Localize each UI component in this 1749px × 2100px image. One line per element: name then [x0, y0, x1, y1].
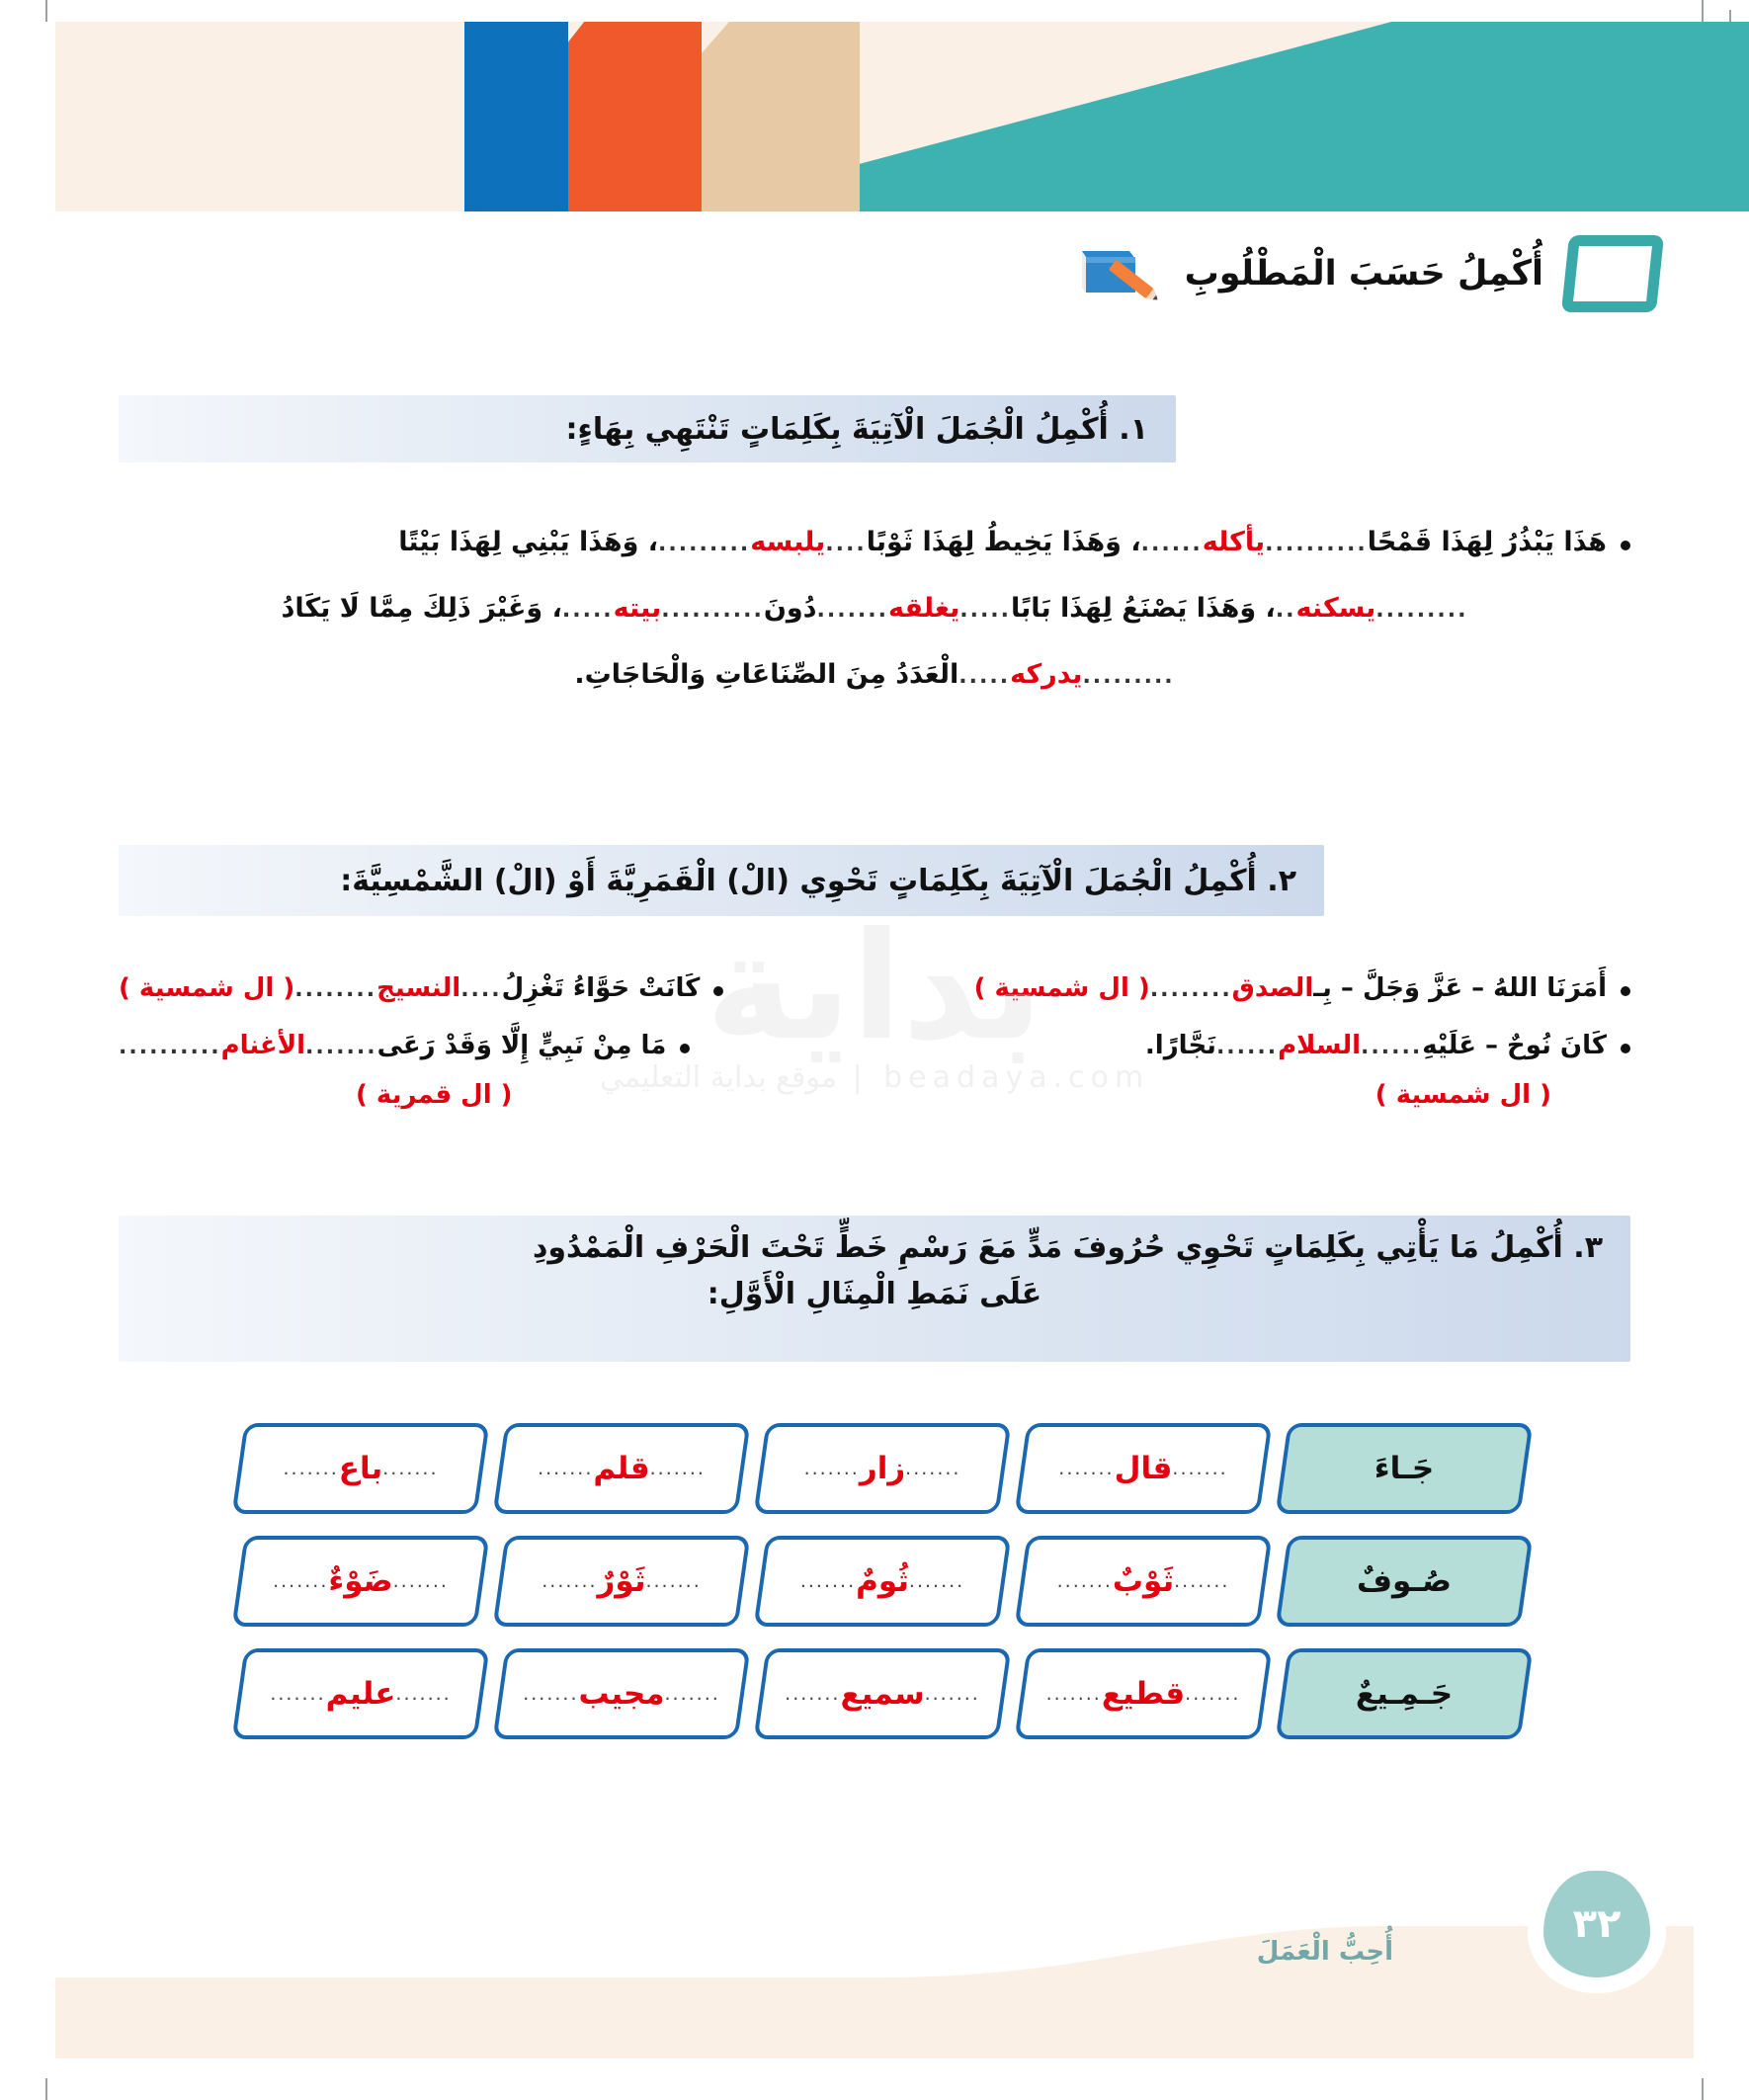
- blank-dots[interactable]: .......: [1172, 1458, 1227, 1479]
- answer-cell[interactable]: .......ضَوْءٌ.......: [232, 1536, 490, 1627]
- sentence-segment: مَا مِنْ نَبِيٍّ إِلَّا وَقَدْ رَعَى: [377, 1031, 667, 1060]
- blank-dots[interactable]: ........: [1150, 977, 1232, 1002]
- page-title: أُكْمِلُ حَسَبَ الْمَطْلُوبِ: [1185, 254, 1543, 294]
- blank-dots[interactable]: .......: [283, 1458, 338, 1479]
- answer-text: الأغنام: [221, 1031, 305, 1060]
- example-word: جَـمِـيعٌ: [1356, 1676, 1453, 1712]
- table-row: جَـاءَ .......قال....... .......زار.....…: [222, 1423, 1527, 1514]
- answer-word: عليم: [326, 1676, 396, 1712]
- textbook-page: أُكْمِلُ حَسَبَ الْمَطْلُوبِ ١. أُكْمِلُ…: [0, 0, 1749, 2100]
- blank-dots[interactable]: .......: [541, 1570, 597, 1592]
- answer-cell[interactable]: .......مجيب.......: [493, 1648, 751, 1739]
- blank-dots[interactable]: .........: [1082, 666, 1174, 688]
- blank-dots[interactable]: .......: [925, 1683, 980, 1705]
- blank-dots[interactable]: .......: [817, 600, 889, 622]
- blank-dots[interactable]: .......: [800, 1570, 856, 1592]
- exercise-2-body: أَمَرَنَا اللهُ – عَزَّ وَجَلَّ – بِـ ال…: [119, 973, 1630, 1110]
- blank-dots[interactable]: ......: [1361, 1035, 1422, 1059]
- al-type-tag-shamsiya: ( ال شمسية ): [1375, 1080, 1551, 1110]
- exercise-2-tag-row: ( ال شمسية ) ( ال قمرية ): [119, 1080, 1630, 1110]
- answer-word: ثُومٌ: [856, 1563, 909, 1599]
- exercise-1-line-2: ......... يسكنه .. ، وَهَذَا يَصْنَعُ لِ…: [119, 595, 1630, 622]
- sentence-segment: ، وَهَذَا يَخِيطُ لِهَذَا ثَوْبًا: [867, 529, 1141, 555]
- exercise-3-instruction-line-2: عَلَى نَمَطِ الْمِثَالِ الْأَوَّلِ:: [146, 1272, 1603, 1318]
- blank-dots[interactable]: .......: [523, 1683, 578, 1705]
- blank-dots[interactable]: .......: [1046, 1683, 1102, 1705]
- blank-dots[interactable]: ........: [294, 977, 376, 1002]
- sentence-segment: نَجَّارًا.: [1145, 1031, 1216, 1060]
- blank-dots[interactable]: .......: [1057, 1570, 1113, 1592]
- footer-lesson-label: أُحِبُّ الْعَمَلَ: [1257, 1937, 1393, 1967]
- al-type-tag-qamariya: ( ال قمرية ): [356, 1080, 513, 1110]
- al-type-tag: ( ال شمسية ): [974, 973, 1150, 1003]
- blank-dots[interactable]: ..........: [1265, 534, 1368, 555]
- answer-word: مجيب: [579, 1676, 665, 1712]
- sentence-segment: كَانَتْ حَوَّاءُ تَغْزِلُ: [502, 973, 701, 1003]
- band-stripe-cream: [55, 22, 464, 211]
- blank-dots[interactable]: .......: [395, 1683, 451, 1705]
- answer-cell[interactable]: .......زار.......: [754, 1423, 1012, 1514]
- blank-dots[interactable]: .......: [1058, 1458, 1114, 1479]
- blank-dots[interactable]: .......: [905, 1458, 960, 1479]
- blank-dots[interactable]: .......: [393, 1570, 449, 1592]
- crop-mark-top-left: [45, 0, 47, 22]
- answer-text: الصدق: [1232, 973, 1314, 1003]
- blank-dots[interactable]: .......: [305, 1035, 377, 1059]
- sentence-segment: أَمَرَنَا اللهُ – عَزَّ وَجَلَّ – بِـ: [1313, 973, 1607, 1003]
- answer-cell[interactable]: .......قال.......: [1015, 1423, 1273, 1514]
- answer-text: يأكله: [1203, 529, 1265, 555]
- crop-mark-bottom-right: [1702, 2078, 1704, 2100]
- answer-text: بيته: [614, 595, 662, 622]
- exercise-2-row-2: كَانَ نُوحٌ – عَلَيْهِ ...... السلام ...…: [119, 1031, 1630, 1060]
- blank-dots[interactable]: .......: [645, 1570, 701, 1592]
- exercise-2-item-right: مَا مِنْ نَبِيٍّ إِلَّا وَقَدْ رَعَى ...…: [119, 1031, 690, 1060]
- blank-dots[interactable]: ....: [460, 977, 501, 1002]
- blank-dots[interactable]: .......: [665, 1683, 720, 1705]
- crop-mark-bottom-left: [45, 2078, 47, 2100]
- exercise-2-instruction: ٢. أُكْمِلُ الْجُمَلَ الْآتِيَةَ بِكَلِم…: [119, 845, 1324, 916]
- blank-dots[interactable]: ......: [1216, 1035, 1278, 1059]
- square-badge-icon: [1561, 235, 1664, 312]
- answer-cell[interactable]: .......ثَوْرٌ.......: [493, 1536, 751, 1627]
- answer-text: يغلقه: [888, 595, 959, 622]
- sentence-segment: كَانَ نُوحٌ – عَلَيْهِ: [1422, 1031, 1607, 1060]
- sentence-segment: الْعَدَدُ مِنَ الصِّنَاعَاتِ وَالْحَاجَا…: [574, 661, 958, 688]
- bullet-icon: [1621, 541, 1630, 550]
- blank-dots[interactable]: .......: [538, 1458, 593, 1479]
- exercise-1-line-3: ......... يدركه ..... الْعَدَدُ مِنَ الص…: [119, 661, 1630, 688]
- section-title-row: أُكْمِلُ حَسَبَ الْمَطْلُوبِ: [1072, 235, 1660, 312]
- blank-dots[interactable]: .........: [1375, 600, 1467, 622]
- bullet-icon: [680, 1044, 690, 1053]
- answer-text: يدركه: [1010, 661, 1082, 688]
- blank-dots[interactable]: .......: [1174, 1570, 1229, 1592]
- example-word: صُـوفٌ: [1357, 1563, 1452, 1599]
- exercise-2-item-right: كَانَتْ حَوَّاءُ تَغْزِلُ .... النسيج ..…: [119, 973, 723, 1003]
- blank-dots[interactable]: ....: [825, 534, 866, 555]
- header-decoration-band: [55, 22, 1749, 211]
- exercise-1-instruction: ١. أُكْمِلُ الْجُمَلَ الْآتِيَةَ بِكَلِم…: [119, 395, 1176, 462]
- blank-dots[interactable]: .......: [909, 1570, 964, 1592]
- exercise-3-grid: جَـاءَ .......قال....... .......زار.....…: [222, 1423, 1527, 1761]
- blank-dots[interactable]: ..........: [119, 1035, 221, 1059]
- answer-word: قطيع: [1102, 1676, 1185, 1712]
- answer-word: ثَوْبٌ: [1113, 1563, 1174, 1599]
- bullet-icon: [1621, 1044, 1630, 1053]
- answer-cell[interactable]: .......قطيع.......: [1015, 1648, 1273, 1739]
- answer-text: يسكنه: [1296, 595, 1376, 622]
- blank-dots[interactable]: .......: [804, 1458, 860, 1479]
- blank-dots[interactable]: .......: [270, 1683, 325, 1705]
- answer-cell[interactable]: .......قلم.......: [493, 1423, 751, 1514]
- sentence-segment: ، وَهَذَا يَبْنِي لِهَذَا بَيْتًا: [398, 529, 658, 555]
- book-pencil-icon: [1072, 243, 1163, 304]
- exercise-2-row-1: أَمَرَنَا اللهُ – عَزَّ وَجَلَّ – بِـ ال…: [119, 973, 1630, 1003]
- example-word: جَـاءَ: [1374, 1451, 1434, 1486]
- answer-word: قال: [1115, 1451, 1173, 1486]
- answer-text: النسيج: [376, 973, 460, 1003]
- exercise-1-line-1: هَذَا يَبْذُرُ لِهَذَا قَمْحًا .........…: [119, 529, 1630, 555]
- blank-dots[interactable]: .......: [382, 1458, 438, 1479]
- sentence-segment: ، وَهَذَا يَصْنَعُ لِهَذَا بَابًا: [1011, 595, 1276, 622]
- blank-dots[interactable]: .....: [959, 600, 1011, 622]
- blank-dots[interactable]: .........: [658, 534, 750, 555]
- sentence-segment: هَذَا يَبْذُرُ لِهَذَا قَمْحًا: [1368, 529, 1607, 555]
- answer-word: سميع: [840, 1676, 924, 1712]
- answer-word: ثَوْرٌ: [598, 1563, 646, 1599]
- answer-cell[interactable]: .......سميع.......: [754, 1648, 1012, 1739]
- blank-dots[interactable]: ..: [1276, 600, 1296, 622]
- answer-word: قلم: [593, 1451, 649, 1486]
- blank-dots[interactable]: .......: [273, 1570, 328, 1592]
- exercise-3-instruction: ٣. أُكْمِلُ مَا يَأْتِي بِكَلِمَاتٍ تَحْ…: [119, 1216, 1630, 1362]
- example-cell: صُـوفٌ: [1276, 1536, 1534, 1627]
- exercise-3-instruction-line-1: ٣. أُكْمِلُ مَا يَأْتِي بِكَلِمَاتٍ تَحْ…: [533, 1230, 1603, 1265]
- example-cell: جَـاءَ: [1276, 1423, 1534, 1514]
- answer-word: باع: [339, 1451, 382, 1486]
- answer-cell[interactable]: .......عليم.......: [232, 1648, 490, 1739]
- blank-dots[interactable]: .....: [958, 666, 1010, 688]
- blank-dots[interactable]: .......: [1185, 1683, 1240, 1705]
- table-row: صُـوفٌ .......ثَوْبٌ....... .......ثُومٌ…: [222, 1536, 1527, 1627]
- sentence-segment: دُونَ: [764, 595, 817, 622]
- exercise-2-item-left: أَمَرَنَا اللهُ – عَزَّ وَجَلَّ – بِـ ال…: [974, 973, 1630, 1003]
- answer-cell[interactable]: .......ثُومٌ.......: [754, 1536, 1012, 1627]
- answer-word: زار: [860, 1451, 905, 1486]
- answer-text: السلام: [1278, 1031, 1361, 1060]
- answer-word: ضَوْءٌ: [328, 1563, 392, 1599]
- table-row: جَـمِـيعٌ .......قطيع....... .......سميع…: [222, 1648, 1527, 1739]
- exercise-2-item-left: كَانَ نُوحٌ – عَلَيْهِ ...... السلام ...…: [1145, 1031, 1630, 1060]
- answer-cell[interactable]: .......ثَوْبٌ.......: [1015, 1536, 1273, 1627]
- sentence-segment: ، وَغَيْرَ ذَلِكَ مِمَّا لَا يَكَادُ: [282, 595, 562, 622]
- blank-dots[interactable]: ......: [1141, 534, 1203, 555]
- al-type-tag: ( ال شمسية ): [119, 973, 294, 1003]
- blank-dots[interactable]: .......: [650, 1458, 706, 1479]
- bullet-icon: [1621, 986, 1630, 996]
- blank-dots[interactable]: ..........: [661, 600, 764, 622]
- answer-cell[interactable]: .......باع.......: [232, 1423, 490, 1514]
- exercise-2-instruction-text: ٢. أُكْمِلُ الْجُمَلَ الْآتِيَةَ بِكَلِم…: [340, 864, 1296, 898]
- answer-text: يلبسه: [750, 529, 825, 555]
- example-cell: جَـمِـيعٌ: [1276, 1648, 1534, 1739]
- bullet-icon: [713, 986, 723, 996]
- exercise-1-body: هَذَا يَبْذُرُ لِهَذَا قَمْحًا .........…: [119, 529, 1630, 727]
- exercise-1-instruction-text: ١. أُكْمِلُ الْجُمَلَ الْآتِيَةَ بِكَلِم…: [566, 412, 1148, 447]
- blank-dots[interactable]: .....: [562, 600, 614, 622]
- blank-dots[interactable]: .......: [785, 1683, 840, 1705]
- footer-wave-decoration: [55, 1900, 1694, 2058]
- page-number: ٣٢: [1543, 1871, 1650, 1977]
- crop-mark-top-right: [1702, 0, 1704, 22]
